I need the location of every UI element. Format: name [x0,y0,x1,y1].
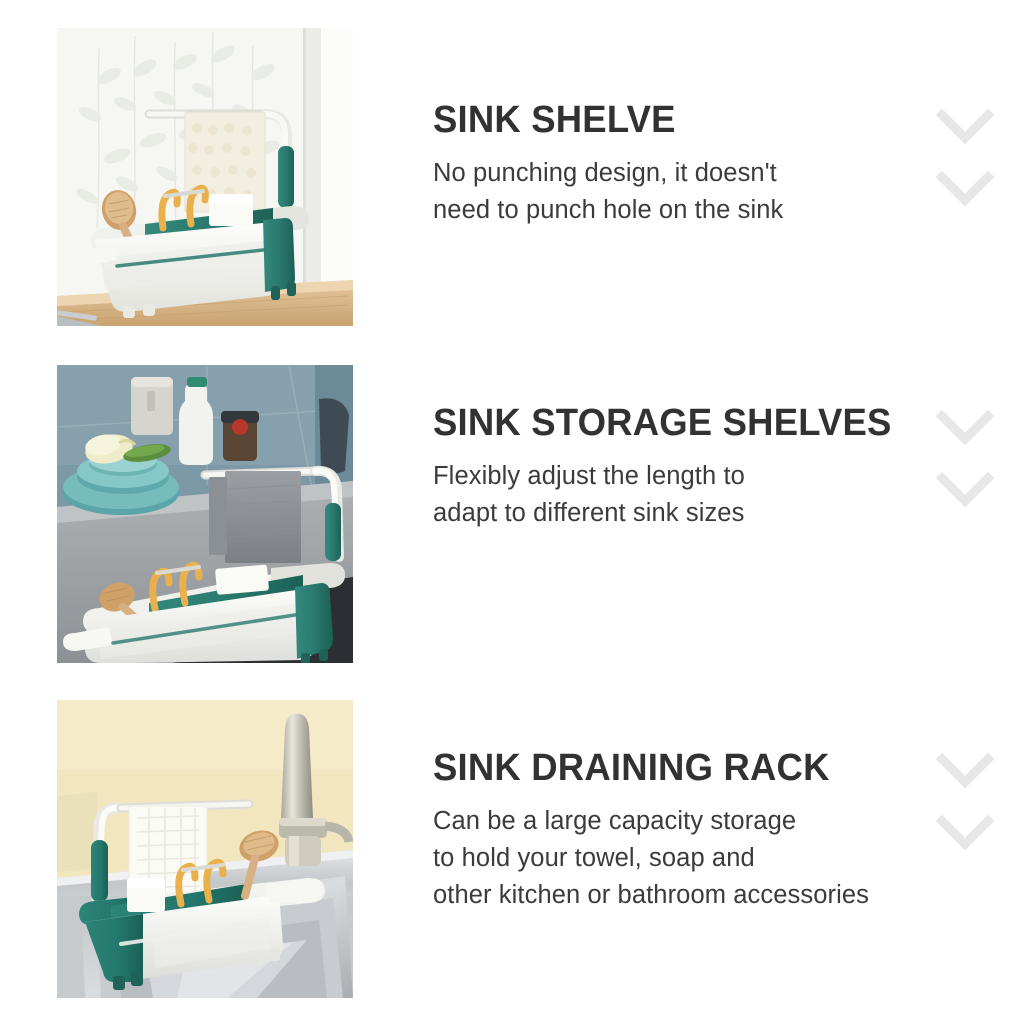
description-line: No punching design, it doesn't [433,155,933,192]
product-photo-sink-draining-rack [57,700,353,998]
feature-row-sink-shelve: SINK SHELVE No punching design, it doesn… [0,28,1024,328]
description-line: to hold your towel, soap and [433,840,933,877]
product-photo-sink-shelve [57,28,353,326]
chevron-down-icon [936,168,994,210]
chevron-down-icon [936,812,994,854]
chevron-down-icon [936,407,994,449]
feature-heading: SINK DRAINING RACK [433,748,913,788]
chevron-group [936,407,994,511]
feature-description: Flexibly adjust the length to adapt to d… [433,458,933,532]
description-line: Flexibly adjust the length to [433,458,933,495]
sink-draining-rack-illustration [57,700,353,998]
chevron-down-icon [936,750,994,792]
feature-text-sink-draining-rack: SINK DRAINING RACK Can be a large capaci… [433,748,933,914]
description-line: other kitchen or bathroom accessories [433,877,933,914]
feature-heading: SINK STORAGE SHELVES [433,403,913,443]
description-line: adapt to different sink sizes [433,495,933,532]
product-feature-infographic: SINK SHELVE No punching design, it doesn… [0,0,1024,1024]
feature-text-sink-storage-shelves: SINK STORAGE SHELVES Flexibly adjust the… [433,403,933,532]
chevron-group [936,106,994,210]
chevron-group [936,750,994,854]
sink-shelve-illustration [57,28,353,326]
chevron-down-icon [936,469,994,511]
feature-row-sink-draining-rack: SINK DRAINING RACK Can be a large capaci… [0,700,1024,1000]
feature-heading: SINK SHELVE [433,100,913,140]
feature-row-sink-storage-shelves: SINK STORAGE SHELVES Flexibly adjust the… [0,365,1024,665]
feature-text-sink-shelve: SINK SHELVE No punching design, it doesn… [433,100,933,229]
feature-description: Can be a large capacity storage to hold … [433,803,933,914]
chevron-down-icon [936,106,994,148]
description-line: Can be a large capacity storage [433,803,933,840]
product-photo-sink-storage-shelves [57,365,353,663]
description-line: need to punch hole on the sink [433,192,933,229]
sink-storage-illustration [57,365,353,663]
feature-description: No punching design, it doesn't need to p… [433,155,933,229]
